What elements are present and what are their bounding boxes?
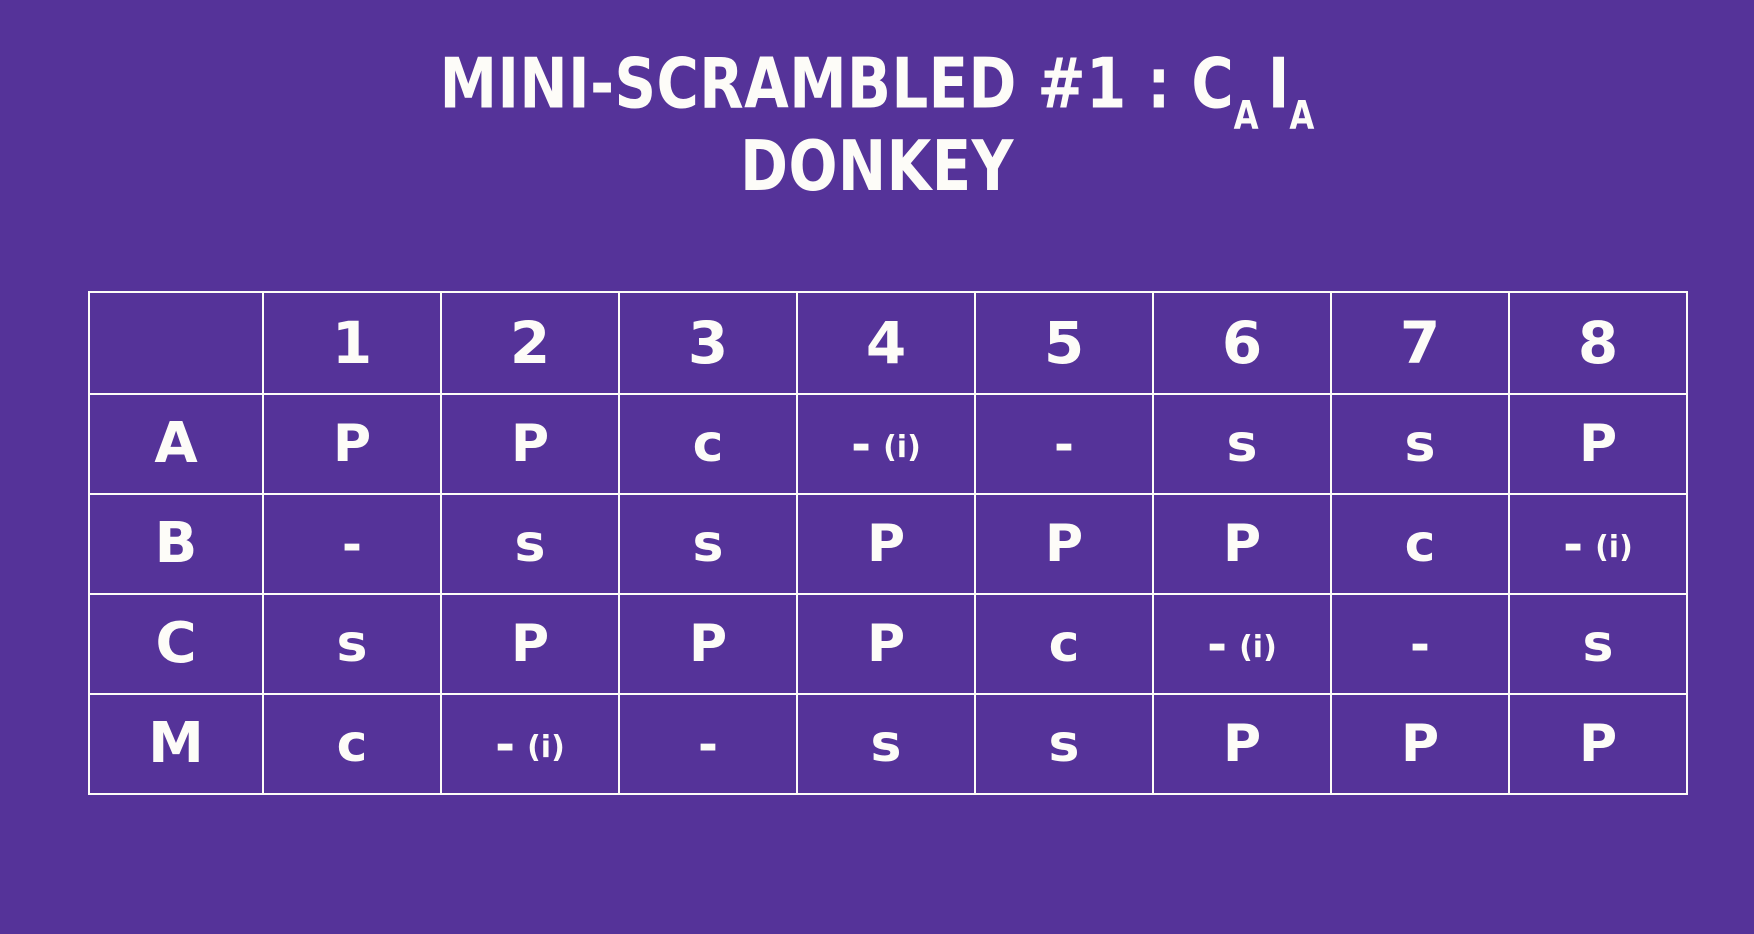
dash-with-flag: -(i) — [495, 721, 565, 769]
title-code-token-1: CA — [1191, 42, 1258, 124]
cell-b-1: - — [263, 494, 441, 594]
title-code-2-base: I — [1268, 42, 1289, 124]
grid-row-a: APPc-(i)-ssP — [89, 394, 1687, 494]
cell-a-2: P — [441, 394, 619, 494]
dash-with-flag: -(i) — [1563, 521, 1633, 569]
column-header-2: 2 — [441, 292, 619, 394]
cell-c-1: s — [263, 594, 441, 694]
dash-glyph: - — [495, 721, 515, 769]
cell-c-8: s — [1509, 594, 1687, 694]
cell-c-5: c — [975, 594, 1153, 694]
column-header-5: 5 — [975, 292, 1153, 394]
grid-row-b: B-ssPPPc-(i) — [89, 494, 1687, 594]
cell-b-6: P — [1153, 494, 1331, 594]
cell-m-2: -(i) — [441, 694, 619, 794]
cell-m-5: s — [975, 694, 1153, 794]
column-header-4: 4 — [797, 292, 975, 394]
page-title: MINI-SCRAMBLED #1 : CAIA DONKEY — [61, 48, 1692, 201]
dash-glyph: - — [1563, 521, 1583, 569]
row-label-c: C — [89, 594, 263, 694]
incomplete-flag: (i) — [1595, 533, 1633, 563]
dash-glyph: - — [1207, 621, 1227, 669]
grid-row-m: Mc-(i)-ssPPP — [89, 694, 1687, 794]
dash-with-flag: -(i) — [1207, 621, 1277, 669]
page-title-line-1: MINI-SCRAMBLED #1 : CAIA — [61, 48, 1692, 131]
cell-a-7: s — [1331, 394, 1509, 494]
cell-b-2: s — [441, 494, 619, 594]
grid-corner-cell — [89, 292, 263, 394]
slide-canvas: MINI-SCRAMBLED #1 : CAIA DONKEY 12345678… — [0, 0, 1754, 934]
cell-a-1: P — [263, 394, 441, 494]
cell-m-4: s — [797, 694, 975, 794]
title-code-2-subscript: A — [1289, 94, 1314, 139]
cell-m-6: P — [1153, 694, 1331, 794]
scramble-grid: 12345678APPc-(i)-ssPB-ssPPPc-(i)CsPPPc-(… — [88, 291, 1688, 795]
cell-c-2: P — [441, 594, 619, 694]
dash-with-flag: -(i) — [851, 421, 921, 469]
cell-b-8: -(i) — [1509, 494, 1687, 594]
row-label-b: B — [89, 494, 263, 594]
cell-a-5: - — [975, 394, 1153, 494]
cell-m-1: c — [263, 694, 441, 794]
incomplete-flag: (i) — [527, 733, 565, 763]
title-code-1-subscript: A — [1234, 94, 1259, 139]
dash-glyph: - — [851, 421, 871, 469]
column-header-8: 8 — [1509, 292, 1687, 394]
cell-m-8: P — [1509, 694, 1687, 794]
grid-header-row: 12345678 — [89, 292, 1687, 394]
cell-c-6: -(i) — [1153, 594, 1331, 694]
column-header-1: 1 — [263, 292, 441, 394]
dash-glyph: - — [698, 717, 718, 773]
cell-a-8: P — [1509, 394, 1687, 494]
dash-glyph: - — [342, 517, 362, 573]
cell-c-3: P — [619, 594, 797, 694]
cell-b-7: c — [1331, 494, 1509, 594]
dash-glyph: - — [1410, 617, 1430, 673]
cell-c-4: P — [797, 594, 975, 694]
cell-a-6: s — [1153, 394, 1331, 494]
row-label-m: M — [89, 694, 263, 794]
grid-row-c: CsPPPc-(i)-s — [89, 594, 1687, 694]
column-header-3: 3 — [619, 292, 797, 394]
cell-a-4: -(i) — [797, 394, 975, 494]
column-header-6: 6 — [1153, 292, 1331, 394]
cell-b-4: P — [797, 494, 975, 594]
incomplete-flag: (i) — [883, 433, 921, 463]
page-title-line-2: DONKEY — [61, 131, 1692, 202]
cell-m-7: P — [1331, 694, 1509, 794]
cell-b-5: P — [975, 494, 1153, 594]
title-code-1-base: C — [1191, 42, 1233, 124]
page-title-prefix: MINI-SCRAMBLED #1 : — [440, 42, 1192, 124]
cell-c-7: - — [1331, 594, 1509, 694]
title-code-token-2: IA — [1268, 42, 1314, 124]
column-header-7: 7 — [1331, 292, 1509, 394]
incomplete-flag: (i) — [1239, 633, 1277, 663]
cell-a-3: c — [619, 394, 797, 494]
cell-b-3: s — [619, 494, 797, 594]
dash-glyph: - — [1054, 417, 1074, 473]
row-label-a: A — [89, 394, 263, 494]
cell-m-3: - — [619, 694, 797, 794]
